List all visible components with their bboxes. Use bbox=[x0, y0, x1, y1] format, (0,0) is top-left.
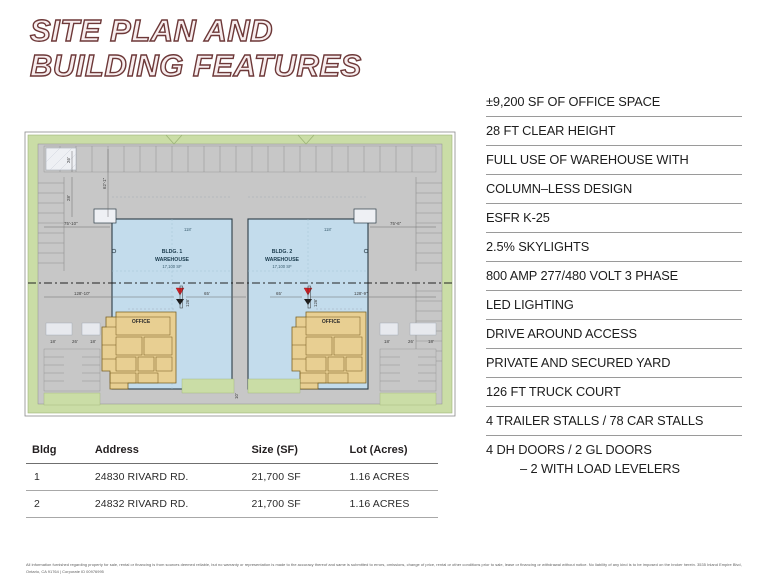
feature-item-esfr: ESFR K-25 bbox=[486, 204, 742, 233]
building-1-name: BLDG. 1 bbox=[162, 249, 183, 255]
utility-pad bbox=[46, 148, 76, 170]
dim-bldg-setback: 10' bbox=[234, 393, 239, 399]
table-header-row: Bldg Address Size (SF) Lot (Acres) bbox=[26, 444, 438, 464]
feature-item-secured-yard: PRIVATE AND SECURED YARD bbox=[486, 349, 742, 378]
building-features-list: ±9,200 SF OF OFFICE SPACE 28 FT CLEAR HE… bbox=[486, 88, 742, 481]
feature-item-doors-main: 4 DH DOORS / 2 GL DOORS bbox=[486, 442, 652, 457]
office-2: OFFICE bbox=[292, 312, 366, 389]
table-row: 1 24830 RIVARD RD. 21,700 SF 1.16 ACRES bbox=[26, 464, 438, 491]
col-header-address: Address bbox=[95, 444, 252, 464]
cell-address: 24830 RIVARD RD. bbox=[95, 464, 252, 491]
page-title: SITE PLAN AND BUILDING FEATURES bbox=[30, 14, 450, 83]
feature-item-column-less: COLUMN–LESS DESIGN bbox=[486, 175, 742, 204]
dim-right-lower: 128'-9" bbox=[354, 291, 368, 296]
dim-bottom-stall-right-2: 18' bbox=[428, 339, 434, 344]
cell-bldg: 1 bbox=[26, 464, 95, 491]
cell-lot: 1.16 ACRES bbox=[350, 491, 439, 518]
dim-top-stall-2: 28' bbox=[66, 195, 71, 201]
feature-item-led-lighting: LED LIGHTING bbox=[486, 291, 742, 320]
page-title-line-2: BUILDING FEATURES bbox=[30, 49, 450, 84]
cell-size: 21,700 SF bbox=[251, 464, 349, 491]
dim-left-lower: 128'-10" bbox=[74, 291, 91, 296]
feature-item-office-space: ±9,200 SF OF OFFICE SPACE bbox=[486, 88, 742, 117]
office-1: OFFICE bbox=[102, 312, 176, 389]
building-2-name: BLDG. 2 bbox=[272, 249, 293, 255]
table-row: 2 24832 RIVARD RD. 21,700 SF 1.16 ACRES bbox=[26, 491, 438, 518]
dim-bottom-aisle-2: 26' bbox=[408, 339, 414, 344]
cell-lot: 1.16 ACRES bbox=[350, 464, 439, 491]
dim-bottom-stall-right: 18' bbox=[90, 339, 96, 344]
feature-item-doors: 4 DH DOORS / 2 GL DOORS – 2 WITH LOAD LE… bbox=[486, 436, 742, 481]
cell-size: 21,700 SF bbox=[251, 491, 349, 518]
dim-top-stall: 26' bbox=[66, 157, 71, 163]
dim-right-upper: 75'-6" bbox=[390, 221, 402, 226]
office-1-label: OFFICE bbox=[132, 319, 151, 325]
dim-bottom-stall-left-2: 18' bbox=[384, 339, 390, 344]
dim-drive-aisle: 62'-1" bbox=[102, 177, 107, 189]
building-2-depth: 118' bbox=[324, 227, 332, 232]
feature-item-warehouse-use: FULL USE OF WAREHOUSE WITH bbox=[486, 146, 742, 175]
feature-item-doors-sub: – 2 WITH LOAD LEVELERS bbox=[486, 458, 742, 477]
feature-item-power: 800 AMP 277/480 VOLT 3 PHASE bbox=[486, 262, 742, 291]
building-1-area: 17,100 SF bbox=[162, 264, 182, 269]
feature-item-clear-height: 28 FT CLEAR HEIGHT bbox=[486, 117, 742, 146]
site-plan-drawing: BLDG. 1 WAREHOUSE 17,100 SF 118' BLDG. 2… bbox=[24, 131, 456, 421]
building-2-use: WAREHOUSE bbox=[265, 257, 300, 263]
dim-left-upper: 75'-10" bbox=[64, 221, 78, 226]
col-header-bldg: Bldg bbox=[26, 444, 95, 464]
dim-bottom-aisle: 26' bbox=[72, 339, 78, 344]
disclaimer-text: All information furnished regarding prop… bbox=[26, 562, 742, 576]
feature-item-skylights: 2.5% SKYLIGHTS bbox=[486, 233, 742, 262]
page-title-line-1: SITE PLAN AND bbox=[30, 14, 450, 49]
building-1-depth: 118' bbox=[184, 227, 192, 232]
col-header-lot: Lot (Acres) bbox=[350, 444, 439, 464]
building-1-use: WAREHOUSE bbox=[155, 257, 190, 263]
feature-item-stalls: 4 TRAILER STALLS / 78 CAR STALLS bbox=[486, 407, 742, 436]
building-2-area: 17,100 SF bbox=[272, 264, 292, 269]
col-header-size: Size (SF) bbox=[251, 444, 349, 464]
cell-bldg: 2 bbox=[26, 491, 95, 518]
dim-truck-court-2: 126' bbox=[313, 299, 318, 307]
cell-address: 24832 RIVARD RD. bbox=[95, 491, 252, 518]
dim-center-right: 65' bbox=[276, 291, 282, 296]
dim-bottom-stall-left: 18' bbox=[50, 339, 56, 344]
feature-item-drive-around: DRIVE AROUND ACCESS bbox=[486, 320, 742, 349]
dim-center-left: 65' bbox=[204, 291, 210, 296]
feature-item-truck-court: 126 FT TRUCK COURT bbox=[486, 378, 742, 407]
dim-truck-court: 126' bbox=[185, 299, 190, 307]
building-table: Bldg Address Size (SF) Lot (Acres) 1 248… bbox=[26, 444, 438, 518]
office-2-label: OFFICE bbox=[322, 319, 341, 325]
